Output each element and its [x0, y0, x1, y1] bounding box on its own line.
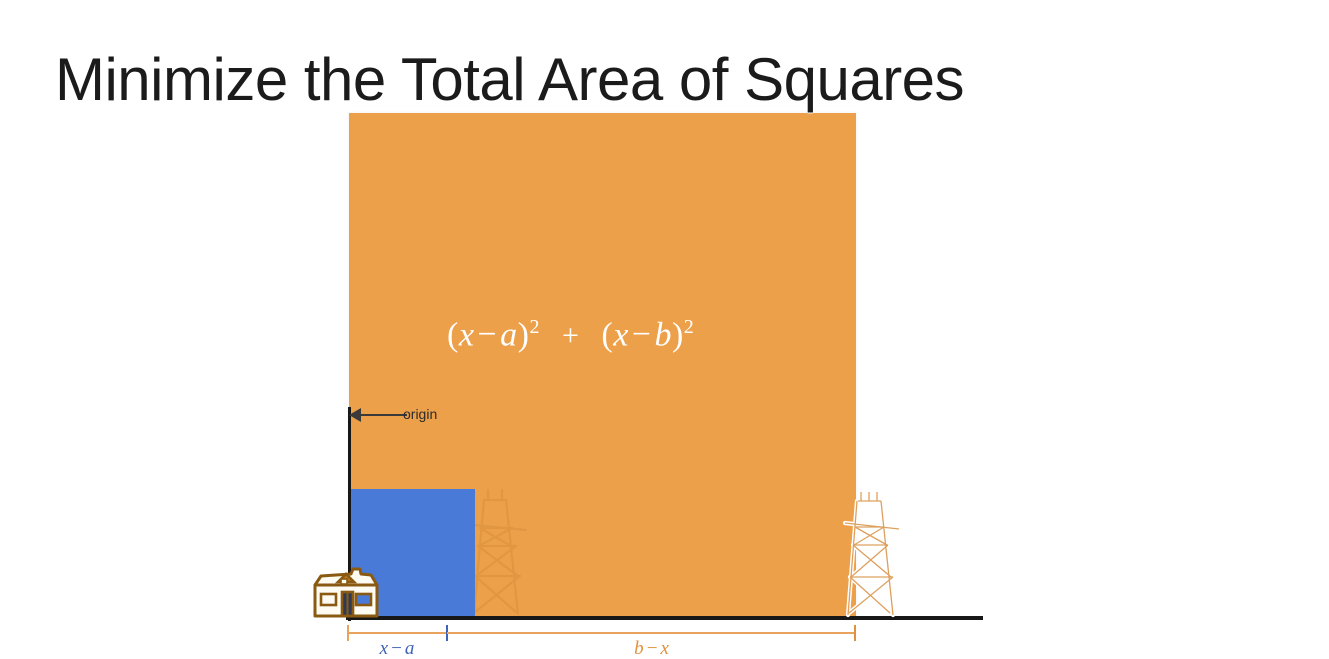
measure-bar	[447, 632, 856, 634]
formula-var-x-1: x	[459, 316, 475, 353]
measure-bracket-b-minus-x: b−x	[447, 622, 859, 659]
slide-canvas: (x−a)2+(x−b)2 origin x−a b−x	[0, 0, 1329, 659]
formula-minus-2: −	[629, 316, 655, 353]
measure-label-b-minus-x: b−x	[447, 638, 856, 659]
formula-exponent-2: 2	[684, 316, 695, 338]
formula-minus-1: −	[474, 316, 500, 353]
measure-label-x-minus-a: x−a	[347, 638, 447, 659]
formula-var-b: b	[654, 316, 672, 353]
formula-close-paren-2: )	[672, 316, 684, 353]
house-icon	[311, 566, 381, 620]
measure-bar	[347, 632, 447, 634]
arrow-line	[359, 414, 407, 416]
formula-var-a: a	[500, 316, 518, 353]
formula-open-paren-2: (	[601, 316, 613, 353]
formula-var-x-2: x	[613, 316, 629, 353]
formula-plus-operator: +	[540, 319, 601, 353]
power-pylon-icon	[843, 487, 901, 620]
formula-open-paren-1: (	[447, 316, 459, 353]
origin-label: origin	[403, 406, 437, 422]
page-title: Minimize the Total Area of Squares	[55, 50, 964, 110]
objective-formula: (x−a)2+(x−b)2	[447, 316, 694, 354]
measure-bracket-x-minus-a: x−a	[347, 622, 449, 659]
formula-exponent-1: 2	[529, 316, 540, 338]
formula-close-paren-1: )	[518, 316, 530, 353]
